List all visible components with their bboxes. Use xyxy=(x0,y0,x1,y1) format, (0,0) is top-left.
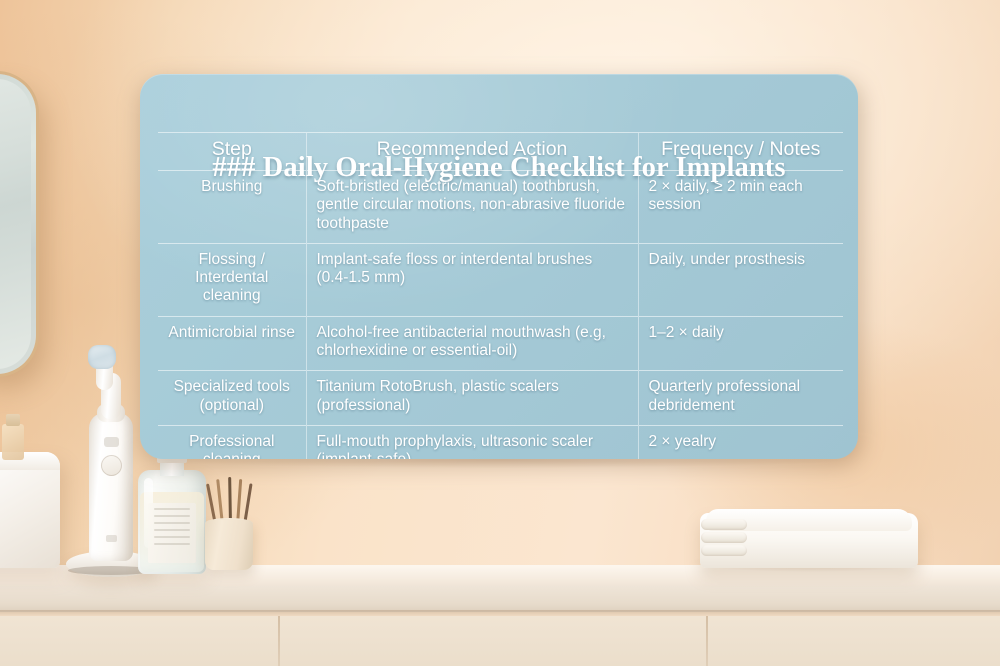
small-amber-bottle xyxy=(2,424,24,460)
towel-roll-1 xyxy=(701,519,747,530)
toothbrush-mode-indicator xyxy=(104,437,119,447)
countertop-edge xyxy=(0,586,1000,612)
cell-step: Flossing / Interdental cleaning xyxy=(158,243,306,316)
cell-frequency: 2 × daily, ≥ 2 min each session xyxy=(638,171,843,244)
cell-step: Specialized tools (optional) xyxy=(158,371,306,426)
table-row: Flossing / Interdental cleaning Implant-… xyxy=(158,243,843,316)
cabinet-seam-right xyxy=(706,616,708,666)
checklist-panel: ### Daily Oral-Hygiene Checklist for Imp… xyxy=(140,74,858,459)
table-row: Specialized tools (optional) Titanium Ro… xyxy=(158,371,843,426)
cell-action: Titanium RotoBrush, plastic scalers (pro… xyxy=(306,371,638,426)
bathroom-scene: ### Daily Oral-Hygiene Checklist for Imp… xyxy=(0,0,1000,666)
vanity-cabinet xyxy=(0,616,1000,666)
toothbrush-brand-mark xyxy=(106,535,117,542)
cell-frequency: Daily, under prosthesis xyxy=(638,243,843,316)
column-header-frequency: Frequency / Notes xyxy=(638,133,843,171)
mouthwash-label xyxy=(148,503,196,563)
column-header-action: Recommended Action xyxy=(306,133,638,171)
cotton-swab-cup xyxy=(205,520,253,570)
table-row: Professional cleaning Full-mouth prophyl… xyxy=(158,425,843,459)
cell-action: Alcohol-free antibacterial mouthwash (e.… xyxy=(306,316,638,371)
cell-step: Professional cleaning xyxy=(158,425,306,459)
table-row: Antimicrobial rinse Alcohol-free antibac… xyxy=(158,316,843,371)
small-bottle-cap xyxy=(6,414,20,426)
table-row: Brushing Soft-bristled (electric/manual)… xyxy=(158,171,843,244)
toothbrush-bristles xyxy=(88,345,116,369)
table-header-row: Step Recommended Action Frequency / Note… xyxy=(158,133,843,171)
toothbrush-power-button xyxy=(101,455,122,476)
column-header-step: Step xyxy=(158,133,306,171)
mirror-glass xyxy=(0,79,31,369)
oral-hygiene-checklist-table: Step Recommended Action Frequency / Note… xyxy=(158,132,843,459)
arched-mirror xyxy=(0,74,36,374)
cell-step: Brushing xyxy=(158,171,306,244)
towel-roll-3 xyxy=(701,545,747,556)
cell-frequency: Quarterly professional debridement xyxy=(638,371,843,426)
towel-roll-2 xyxy=(701,532,747,543)
cell-step: Antimicrobial rinse xyxy=(158,316,306,371)
cabinet-seam-left xyxy=(278,616,280,666)
cell-action: Full-mouth prophylaxis, ultrasonic scale… xyxy=(306,425,638,459)
cell-action: Soft-bristled (electric/manual) toothbru… xyxy=(306,171,638,244)
cell-frequency: 1–2 × daily xyxy=(638,316,843,371)
cell-frequency: 2 × yealry xyxy=(638,425,843,459)
cell-action: Implant-safe floss or interdental brushe… xyxy=(306,243,638,316)
